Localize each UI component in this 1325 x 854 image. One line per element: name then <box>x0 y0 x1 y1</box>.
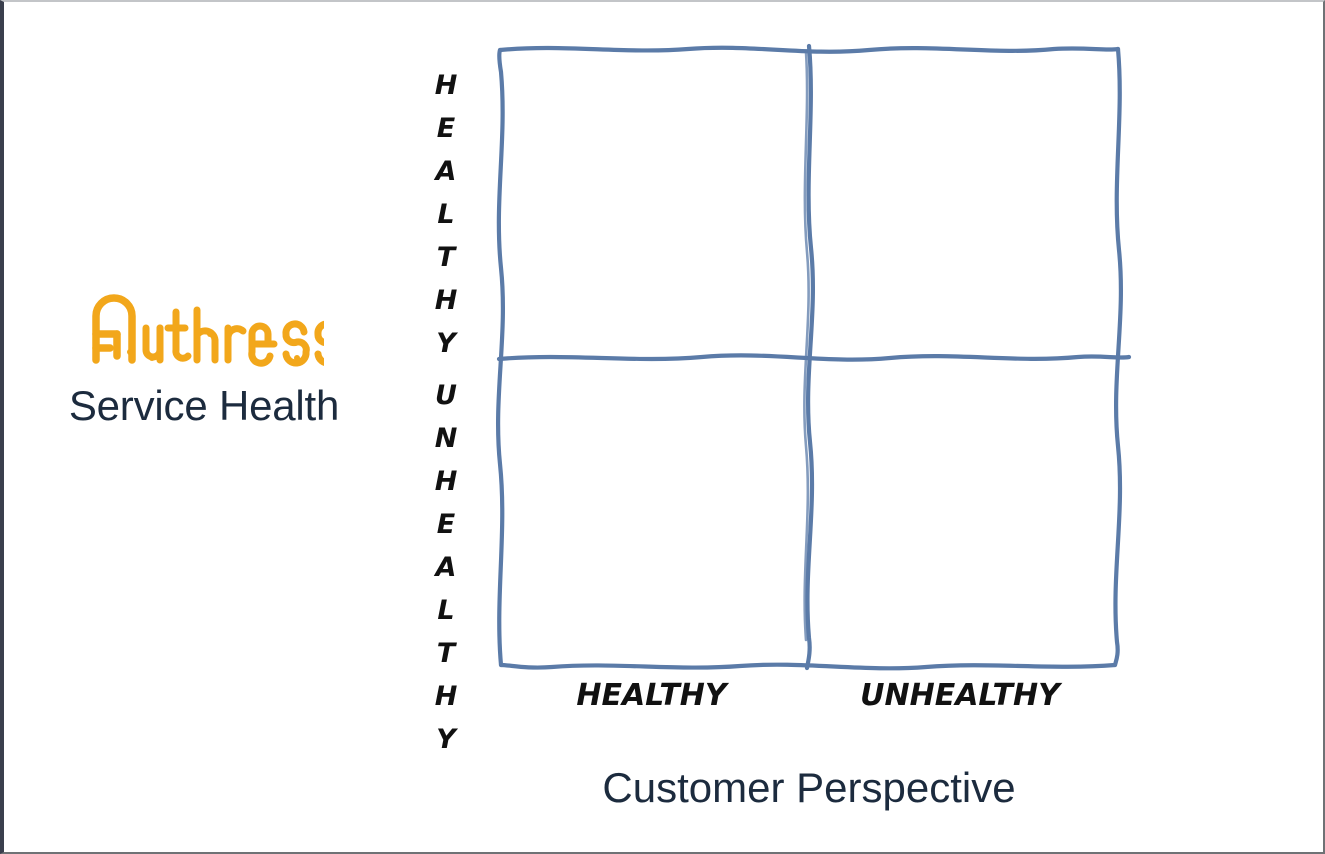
y-axis-healthy-letter: H <box>419 279 473 322</box>
y-axis-healthy-letter: Y <box>419 322 473 365</box>
y-axis-unhealthy-letter: E <box>419 503 473 546</box>
x-axis-label-unhealthy: UNHEALTHY <box>804 678 1116 713</box>
slide-subtitle: Service Health <box>4 384 404 428</box>
y-axis-unhealthy-letter: U <box>419 374 473 417</box>
y-axis-unhealthy-letter: T <box>419 632 473 675</box>
y-axis-unhealthy-letter: N <box>419 417 473 460</box>
authress-logo <box>84 290 324 370</box>
quadrant-unhealthy-unhealthy[interactable] <box>804 357 1116 664</box>
quadrant-unhealthy-healthy[interactable] <box>501 357 804 664</box>
quadrant-healthy-healthy[interactable] <box>501 49 804 357</box>
branding-block: Service Health <box>4 290 404 428</box>
y-axis-healthy-letter: H <box>419 64 473 107</box>
y-axis-unhealthy-letter: Y <box>419 718 473 761</box>
y-axis-healthy-letter: L <box>419 193 473 236</box>
quadrant-healthy-unhealthy[interactable] <box>804 49 1116 357</box>
y-axis-healthy-letter: T <box>419 236 473 279</box>
y-axis-unhealthy-letter: H <box>419 675 473 718</box>
y-axis-healthy-letter: A <box>419 150 473 193</box>
y-axis-label-unhealthy: U N H E A L T H Y <box>419 374 473 761</box>
y-axis-unhealthy-letter: A <box>419 546 473 589</box>
y-axis-unhealthy-letter: H <box>419 460 473 503</box>
x-axis-title: Customer Perspective <box>469 764 1149 812</box>
y-axis-healthy-letter: E <box>419 107 473 150</box>
y-axis-label-healthy: H E A L T H Y <box>419 64 473 365</box>
y-axis-unhealthy-letter: L <box>419 589 473 632</box>
x-axis-label-healthy: HEALTHY <box>499 678 804 713</box>
slide-canvas: Service Health H <box>0 0 1325 854</box>
